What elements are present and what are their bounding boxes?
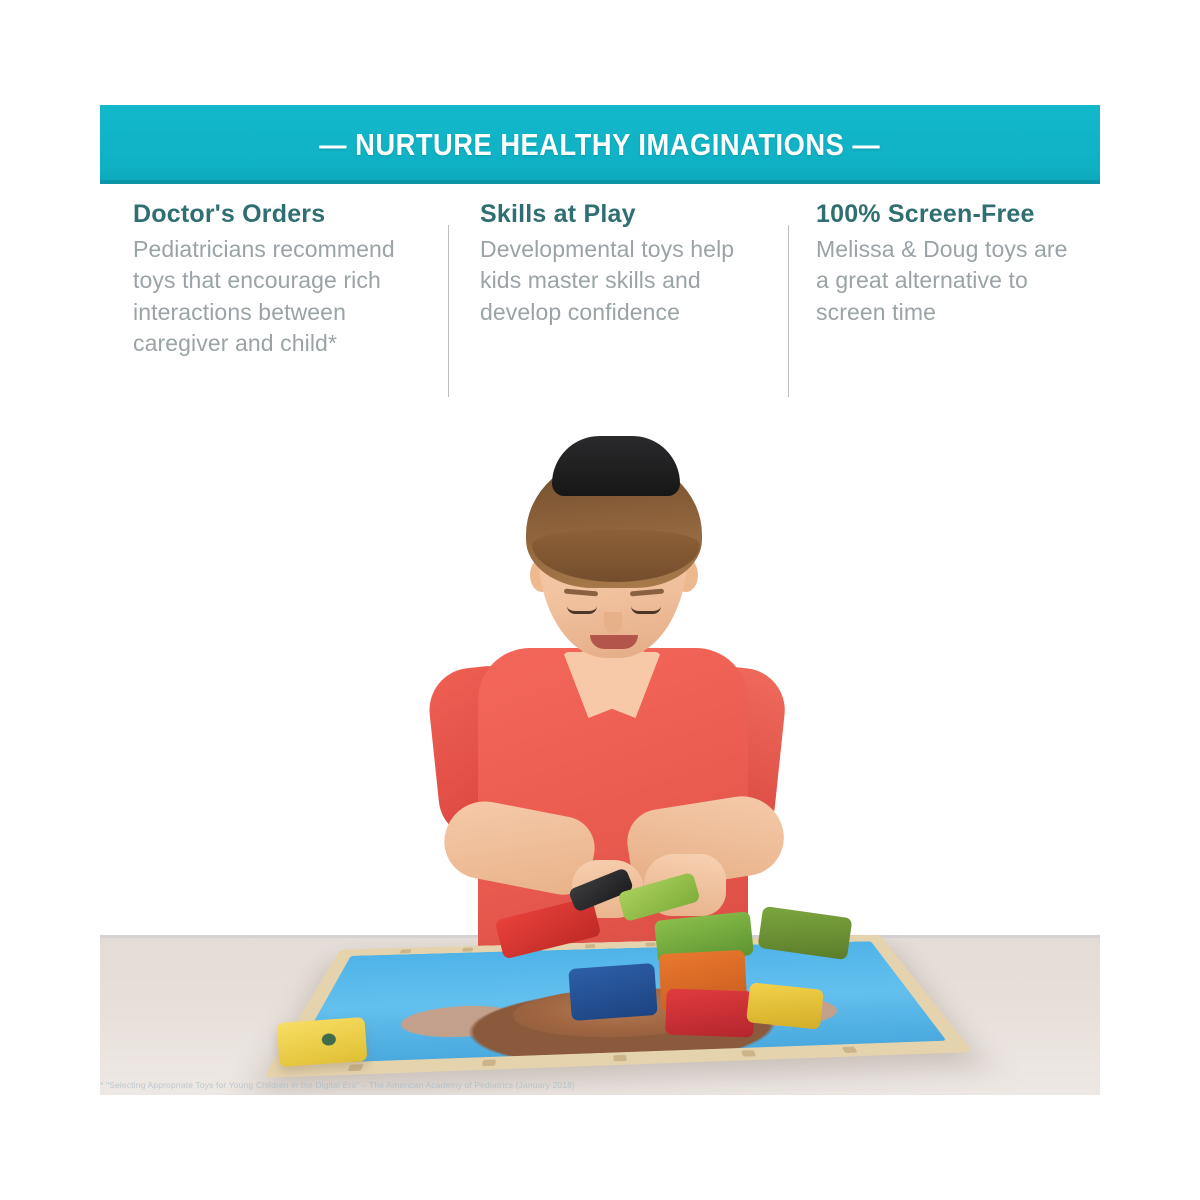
product-infographic-page: — NURTURE HEALTHY IMAGINATIONS — Doctor'… bbox=[0, 0, 1200, 1200]
feature-body: Melissa & Doug toys are a great alternat… bbox=[816, 234, 1082, 329]
nose bbox=[604, 612, 622, 634]
feature-body: Pediatricians recommend toys that encour… bbox=[133, 234, 430, 360]
eye-right bbox=[631, 606, 661, 614]
puzzle-piece-yellow bbox=[746, 982, 824, 1030]
lifestyle-photo bbox=[100, 430, 1100, 1095]
board-notch bbox=[645, 942, 656, 946]
puzzle-piece-crimson bbox=[665, 988, 755, 1037]
banner-title: — NURTURE HEALTHY IMAGINATIONS — bbox=[319, 127, 880, 163]
puzzle-piece-blue bbox=[568, 963, 657, 1021]
kippah-cap bbox=[552, 436, 680, 496]
board-notch bbox=[613, 1055, 627, 1062]
child-subject bbox=[430, 430, 790, 990]
feature-heading: Doctor's Orders bbox=[133, 200, 430, 230]
feature-column-skills-at-play: Skills at Play Developmental toys help k… bbox=[448, 200, 788, 450]
board-notch bbox=[482, 1059, 496, 1066]
banner-nurture-healthy-imaginations: — NURTURE HEALTHY IMAGINATIONS — bbox=[100, 105, 1100, 184]
board-notch bbox=[585, 944, 595, 948]
column-divider-2 bbox=[788, 225, 789, 397]
board-notch bbox=[400, 949, 412, 953]
feature-body: Developmental toys help kids master skil… bbox=[480, 234, 770, 329]
board-notch bbox=[347, 1064, 363, 1071]
feature-column-doctors-orders: Doctor's Orders Pediatricians recommend … bbox=[100, 200, 448, 450]
board-notch bbox=[741, 1050, 756, 1057]
puzzle-piece-yellow-loose bbox=[277, 1017, 368, 1067]
feature-column-screen-free: 100% Screen-Free Melissa & Doug toys are… bbox=[788, 200, 1100, 450]
mouth-smile bbox=[590, 635, 638, 649]
feature-heading: 100% Screen-Free bbox=[816, 200, 1082, 230]
board-notch bbox=[842, 1047, 858, 1054]
feature-heading: Skills at Play bbox=[480, 200, 770, 230]
board-notch bbox=[462, 948, 473, 952]
feature-columns: Doctor's Orders Pediatricians recommend … bbox=[100, 200, 1100, 450]
footnote-citation: * "Selecting Appropriate Toys for Young … bbox=[100, 1080, 1100, 1090]
column-divider-1 bbox=[448, 225, 449, 397]
eye-left bbox=[567, 606, 597, 614]
